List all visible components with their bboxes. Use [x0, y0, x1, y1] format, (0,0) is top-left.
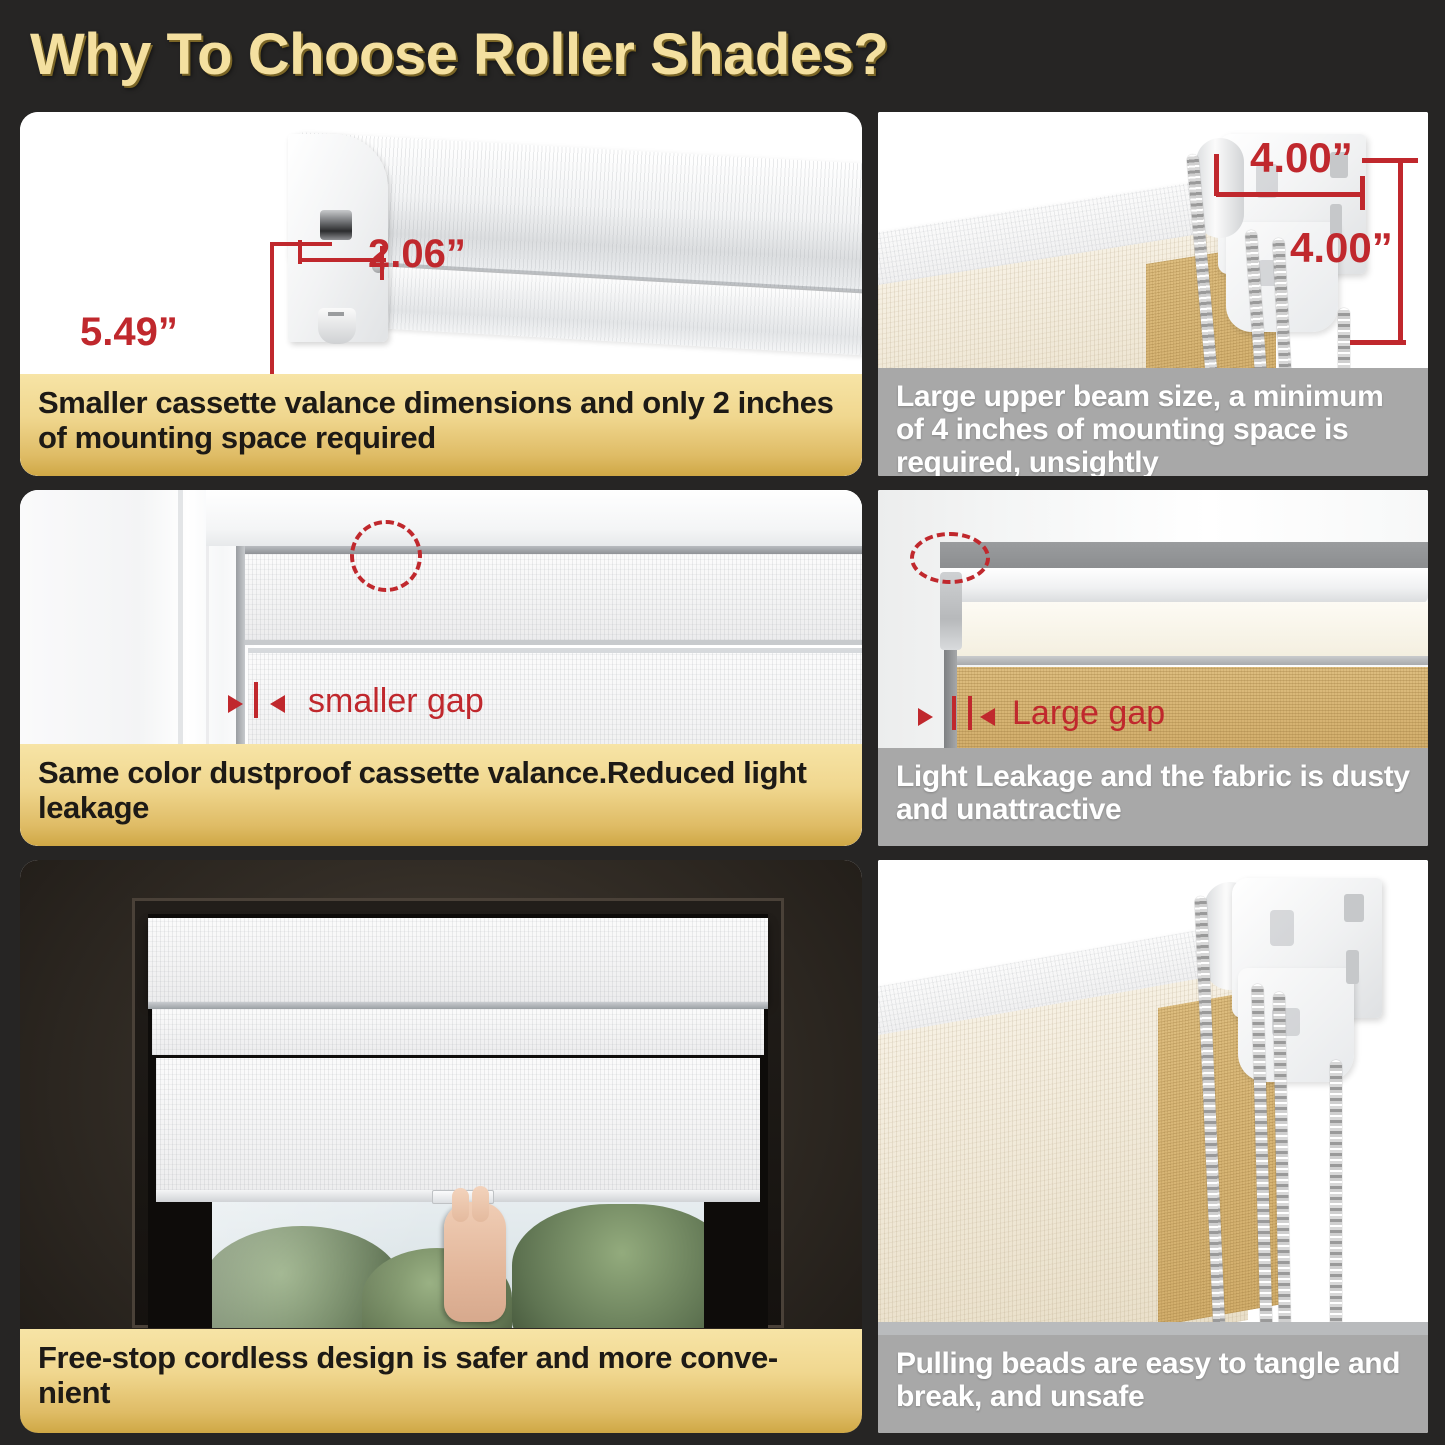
caption-large-beam: Large upper beam size, a minimum of 4 in…	[878, 368, 1428, 476]
hand-finger	[472, 1186, 489, 1222]
height-dim-top-tick	[1362, 158, 1418, 163]
bracket-emboss-upper-icon	[1270, 910, 1294, 946]
panel-cordless-window: Free-stop cordless design is safer and m…	[20, 860, 862, 1433]
caption-dustproof-cassette: Same color dustproof cassette valance.Re…	[20, 744, 862, 846]
panel-light-leakage: Large gap Light Leakage and the fabric i…	[878, 490, 1428, 846]
caption-cassette-dimensions: Smaller cassette valance dimensions and …	[20, 374, 862, 476]
window-head-jamb	[206, 490, 862, 546]
valance-face	[956, 602, 1428, 656]
panel-large-beam-dimensions: 4.00” 4.00” Large upper beam size, a min…	[878, 112, 1428, 476]
cassette-face	[244, 554, 862, 640]
shade-headrail	[148, 918, 768, 1002]
height-dim-bottom-tick	[1350, 340, 1406, 345]
cassette-bottom-edge	[244, 640, 862, 645]
panel-dustproof-cassette: smaller gap Same color dustproof cassett…	[20, 490, 862, 846]
gap-highlight-circle	[910, 532, 990, 584]
gap-arrow-left-icon	[228, 695, 243, 713]
panel-pulling-beads: Pulling beads are easy to tangle and bre…	[878, 860, 1428, 1433]
bracket-slot-icon	[320, 210, 352, 240]
depth-dimension-label: 2.06”	[368, 232, 466, 277]
comparison-grid: 5.49” 2.06” Smaller cassette valance dim…	[0, 108, 1445, 1445]
valance-bottom-edge	[956, 656, 1428, 665]
height-dimension-label: 5.49”	[80, 310, 178, 355]
page-title: Why To Choose Roller Shades?	[30, 21, 888, 88]
gap-highlight-circle	[350, 520, 422, 592]
height-dimension-label: 4.00”	[1290, 224, 1393, 272]
shade-second-rail	[152, 1009, 764, 1055]
bracket-slot-upper-icon	[1344, 894, 1364, 922]
gap-arrow-right-icon	[270, 695, 285, 713]
roller-tube	[940, 568, 1428, 604]
shade-fabric	[156, 1058, 760, 1200]
depth-dim-left-tick	[298, 240, 302, 264]
width-dim-right-tick	[1360, 176, 1365, 210]
gap-marker-line	[254, 682, 258, 718]
height-dim-vertical-line	[1398, 158, 1403, 344]
smaller-gap-label: smaller gap	[308, 682, 484, 721]
page-header: Why To Choose Roller Shades?	[0, 0, 1445, 108]
width-dimension-label: 4.00”	[1250, 134, 1353, 182]
large-gap-label: Large gap	[1012, 694, 1165, 733]
bead-chain	[1330, 1060, 1342, 1336]
hand-finger	[452, 1188, 469, 1222]
width-dim-horizontal-line	[1216, 192, 1364, 197]
floor-shadow	[878, 1322, 1428, 1336]
bracket-slot-lower-icon	[1346, 950, 1359, 984]
caption-pulling-beads: Pulling beads are easy to tangle and bre…	[878, 1335, 1428, 1433]
gap-arrow-right-icon	[980, 708, 995, 726]
width-dim-left-tick	[1214, 154, 1219, 196]
cassette-top-rail	[242, 546, 862, 554]
caption-light-leakage: Light Leakage and the fabric is dusty an…	[878, 748, 1428, 846]
headrail-lip	[148, 1002, 768, 1009]
shade-fabric-seam	[248, 648, 862, 653]
gap-arrow-left-icon	[918, 708, 933, 726]
gap-marker-line-2	[968, 696, 972, 730]
caption-cordless-window: Free-stop cordless design is safer and m…	[20, 1329, 862, 1433]
gap-marker-line-1	[952, 696, 956, 730]
panel-cassette-dimensions: 5.49” 2.06” Smaller cassette valance dim…	[20, 112, 862, 476]
pin-icon	[328, 312, 344, 316]
